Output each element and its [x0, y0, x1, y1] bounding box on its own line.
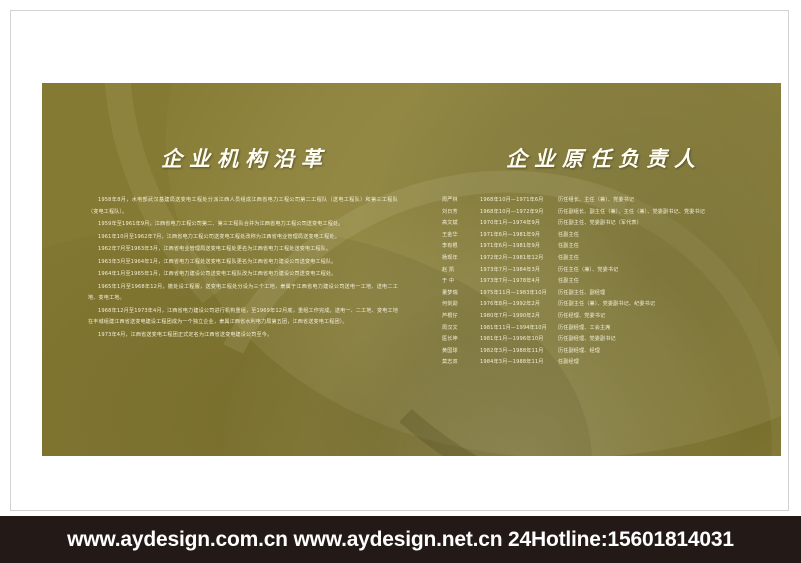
leader-role: 历任副主任、副经理 [558, 288, 762, 300]
history-title: 企业机构沿革 [88, 143, 398, 173]
leader-name: 董梦瑞 [442, 288, 480, 300]
history-paragraph: 1963年3月至1964年1月，江西省电力工程处送变电工程队更名为江西省电力建设… [88, 257, 398, 269]
list-item: 赵 凯 1973年7月—1984年3月 历任主任（兼）、党委书记 [442, 265, 762, 277]
leader-role: 历任副主任（兼）、党委副书记、纪委书记 [558, 299, 762, 311]
leader-name: 周严林 [442, 195, 480, 207]
list-item: 周汉文 1981年11月—1994年10月 历任副经理、工会主席 [442, 323, 762, 335]
list-item: 于 中 1973年7月—1978年4月 任副主任 [442, 276, 762, 288]
history-paragraph: 1973年4月，江西省送变电工程团正式定名为江西省送变电建设公司至今。 [88, 330, 398, 342]
history-column: 企业机构沿革 1958年8月，水电部武汉基建局送变电工程处分派江西人员组成江西省… [88, 143, 398, 342]
leader-role: 历任副主任、党委副书记（军代表） [558, 218, 762, 230]
leader-role: 历任副经理、工会主席 [558, 323, 762, 335]
leader-role: 任副主任 [558, 276, 762, 288]
history-paragraph: 1959年至1961年9月，江西省电力工程公司第二、第三工程队合并为江西省电力工… [88, 219, 398, 231]
history-paragraph: 1961年10月至1962年7月，江西省电力工程公司送变电工程处改称为江西省电业… [88, 232, 398, 244]
list-item: 高文斌 1970年1月—1974年9月 历任副主任、党委副书记（军代表） [442, 218, 762, 230]
leader-name: 赵 凯 [442, 265, 480, 277]
history-paragraph: 1968年12月至1973年4月，江西省电力建设公司进行机构重组，至1969年1… [88, 306, 398, 329]
leaders-title: 企业原任负责人 [442, 143, 762, 173]
leader-role: 历任副经理、经理 [558, 346, 762, 358]
leader-role: 任副经理 [558, 357, 762, 369]
leader-term: 1971年6月—1981年9月 [480, 230, 558, 242]
leaders-list: 周严林 1968年10月—1971年6月 历任组长、主任（兼）、党委书记 刘日芳… [442, 195, 762, 369]
leader-term: 1968年10月—1972年9月 [480, 207, 558, 219]
leader-term: 1976年8月—1992年2月 [480, 299, 558, 311]
leader-term: 1970年1月—1974年9月 [480, 218, 558, 230]
list-item: 医长坤 1981年1月—1996年10月 历任副经理、党委副书记 [442, 334, 762, 346]
leader-role: 历任组长、主任（兼）、党委书记 [558, 195, 762, 207]
leader-term: 1982年3月—1988年11月 [480, 346, 558, 358]
leader-name: 周汉文 [442, 323, 480, 335]
leader-role: 历任主任（兼）、党委书记 [558, 265, 762, 277]
list-item: 王金华 1971年6月—1981年9月 任副主任 [442, 230, 762, 242]
history-paragraph: 1965年1月至1968年12月，撤处设工程服，送变电工程处分设为三个工地，隶属… [88, 282, 398, 305]
history-paragraph: 1964年1月至1965年1月，江西省电力建设公司送变电工程队改为江西省电力建设… [88, 269, 398, 281]
leader-role: 任副主任 [558, 241, 762, 253]
list-item: 何剑勋 1976年8月—1992年2月 历任副主任（兼）、党委副书记、纪委书记 [442, 299, 762, 311]
poster-panel: 企业机构沿革 1958年8月，水电部武汉基建局送变电工程处分派江西人员组成江西省… [42, 83, 781, 456]
leader-name: 王金华 [442, 230, 480, 242]
leader-term: 1975年11月—1983年10月 [480, 288, 558, 300]
list-item: 李有根 1971年6月—1981年9月 任副主任 [442, 241, 762, 253]
list-item: 董梦瑞 1975年11月—1983年10月 历任副主任、副经理 [442, 288, 762, 300]
list-item: 周严林 1968年10月—1971年6月 历任组长、主任（兼）、党委书记 [442, 195, 762, 207]
leader-role: 任副主任 [558, 253, 762, 265]
history-paragraph-list: 1958年8月，水电部武汉基建局送变电工程处分派江西人员组成江西省电力工程公司第… [88, 195, 398, 341]
leader-name: 李有根 [442, 241, 480, 253]
poster-content: 企业机构沿革 1958年8月，水电部武汉基建局送变电工程处分派江西人员组成江西省… [42, 83, 781, 456]
leader-name: 何剑勋 [442, 299, 480, 311]
leader-name: 医长坤 [442, 334, 480, 346]
leader-role: 历任经理、党委书记 [558, 311, 762, 323]
footer-banner: www.aydesign.com.cn www.aydesign.net.cn … [0, 516, 801, 563]
leader-term: 1984年3月—1988年11月 [480, 357, 558, 369]
leader-role: 历任副组长、副主任（兼）、主任（兼）、党委副书记、党委书记 [558, 207, 762, 219]
leader-term: 1972年2月—1981年12月 [480, 253, 558, 265]
leader-term: 1980年7月—1990年2月 [480, 311, 558, 323]
footer-banner-text: www.aydesign.com.cn www.aydesign.net.cn … [67, 528, 734, 552]
leaders-column: 企业原任负责人 周严林 1968年10月—1971年6月 历任组长、主任（兼）、… [442, 143, 762, 369]
leader-role: 历任副经理、党委副书记 [558, 334, 762, 346]
leader-term: 1973年7月—1984年3月 [480, 265, 558, 277]
leader-term: 1981年1月—1996年10月 [480, 334, 558, 346]
list-item: 杨现年 1972年2月—1981年12月 任副主任 [442, 253, 762, 265]
leader-name: 高文斌 [442, 218, 480, 230]
leader-name: 刘日芳 [442, 207, 480, 219]
leader-name: 杨现年 [442, 253, 480, 265]
leader-name: 于 中 [442, 276, 480, 288]
page-frame: 企业机构沿革 1958年8月，水电部武汉基建局送变电工程处分派江西人员组成江西省… [10, 10, 789, 511]
history-paragraph: 1958年8月，水电部武汉基建局送变电工程处分派江西人员组成江西省电力工程公司第… [88, 195, 398, 218]
leader-term: 1971年6月—1981年9月 [480, 241, 558, 253]
leader-term: 1973年7月—1978年4月 [480, 276, 558, 288]
leader-term: 1981年11月—1994年10月 [480, 323, 558, 335]
list-item: 莫志双 1984年3月—1988年11月 任副经理 [442, 357, 762, 369]
history-paragraph: 1962年7月至1963年3月，江西省电业管理局送变电工程处更名为江西省电力工程… [88, 244, 398, 256]
leader-term: 1968年10月—1971年6月 [480, 195, 558, 207]
list-item: 刘日芳 1968年10月—1972年9月 历任副组长、副主任（兼）、主任（兼）、… [442, 207, 762, 219]
leader-name: 黄国球 [442, 346, 480, 358]
leader-name: 莫志双 [442, 357, 480, 369]
list-item: 芦根仔 1980年7月—1990年2月 历任经理、党委书记 [442, 311, 762, 323]
leader-name: 芦根仔 [442, 311, 480, 323]
list-item: 黄国球 1982年3月—1988年11月 历任副经理、经理 [442, 346, 762, 358]
leader-role: 任副主任 [558, 230, 762, 242]
